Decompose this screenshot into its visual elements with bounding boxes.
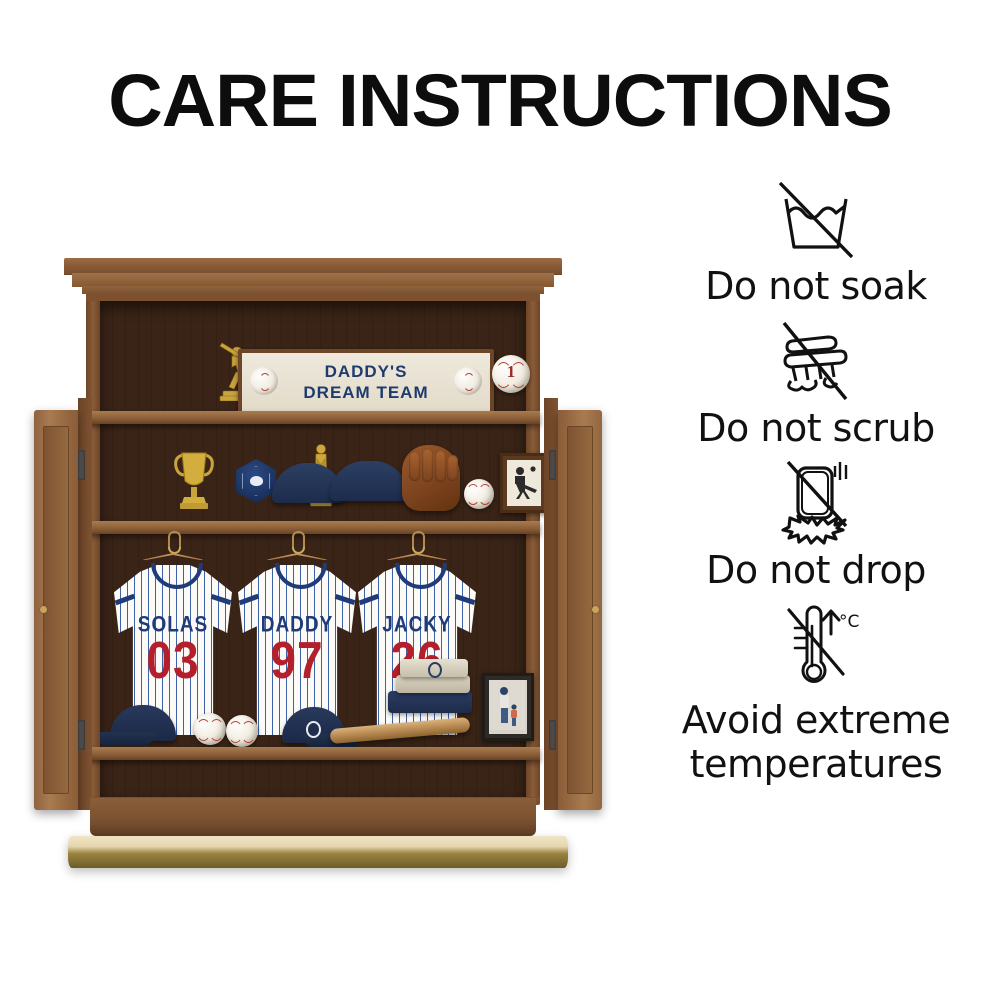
baseball-bottom-one: [194, 713, 226, 745]
care-label-do-not-scrub: Do not scrub: [632, 406, 1000, 450]
care-item-do-not-scrub: Do not scrub: [632, 314, 1000, 450]
hanger-bar-2: [265, 553, 329, 560]
right-door-hinge-bottom: [549, 720, 556, 750]
jersey-number-2: 97: [238, 630, 356, 690]
framed-family-photo: [482, 673, 534, 741]
shelf-top: [86, 411, 540, 424]
cabinet-plinth-base: [68, 836, 568, 868]
sign-line-2: DREAM TEAM: [303, 382, 428, 403]
hanger-1: [141, 539, 205, 561]
jersey-daddy: DADDY 97: [238, 565, 356, 735]
sign-text: DADDY'S DREAM TEAM: [303, 361, 428, 403]
folded-towel-bottom: [388, 691, 472, 713]
crown-molding-top: [64, 258, 562, 274]
care-item-do-not-drop: Do not drop: [632, 456, 1000, 592]
cap-brim-left: [100, 732, 156, 746]
cabinet-carcass: DADDY'S DREAM TEAM 1: [86, 293, 540, 805]
care-instruction-list: Do not soak Do not scrub: [632, 172, 1000, 792]
baseball-glove: [402, 445, 460, 511]
hanger-hook-1: [168, 531, 181, 547]
sign-baseball-left: [250, 367, 278, 395]
care-label-do-not-drop: Do not drop: [632, 548, 1000, 592]
care-item-avoid-extreme-temperatures: °C Avoid extreme temperatures: [632, 598, 1000, 786]
cap-logo: [306, 721, 321, 738]
towel-logo: [428, 662, 442, 678]
baseball-middle-shelf: [464, 479, 494, 509]
svg-text:°C: °C: [839, 612, 859, 632]
jersey-number-1: 03: [114, 630, 232, 690]
no-scrub-icon: [632, 314, 1000, 406]
hanger-hook-3: [412, 531, 425, 547]
left-door-hinge-bottom: [78, 720, 85, 750]
hanger-bar-1: [141, 553, 205, 560]
right-door-knob[interactable]: [592, 606, 599, 613]
right-door-panel: [567, 426, 593, 794]
product-image-locker-cabinet: DADDY'S DREAM TEAM 1: [28, 258, 608, 878]
baseball-number: 1: [492, 362, 530, 382]
left-door-knob[interactable]: [40, 606, 47, 613]
sign-baseball-right: [454, 367, 482, 395]
avoid-extreme-temperatures-icon: °C: [632, 598, 1000, 698]
framed-family-photo-image: [489, 680, 527, 734]
right-door-hinge-top: [549, 450, 556, 480]
name-sign-plaque: DADDY'S DREAM TEAM: [238, 349, 494, 415]
shelf-middle: [86, 521, 540, 534]
folded-towel-top: [400, 659, 468, 677]
baseball-bottom-two: [226, 715, 258, 747]
page-title: CARE INSTRUCTIONS: [0, 58, 1000, 143]
no-drop-icon: [632, 456, 1000, 548]
hanger-bar-3: [385, 553, 449, 560]
care-item-do-not-soak: Do not soak: [632, 172, 1000, 308]
hanger-hook-2: [292, 531, 305, 547]
care-label-avoid-extreme-temperatures-line1: Avoid extreme: [632, 698, 1000, 742]
hanger-2: [265, 539, 329, 561]
no-soak-icon: [632, 172, 1000, 264]
framed-batter-artwork: [500, 453, 548, 513]
care-instructions-page: CARE INSTRUCTIONS: [0, 0, 1000, 1000]
numbered-baseball: 1: [492, 355, 530, 393]
care-label-do-not-soak: Do not soak: [632, 264, 1000, 308]
sign-line-1: DADDY'S: [303, 361, 428, 382]
gold-trophy: [172, 445, 216, 511]
framed-batter-artwork-canvas: [507, 460, 541, 506]
cabinet-base-block: [90, 798, 536, 836]
care-label-avoid-extreme-temperatures-line2: temperatures: [632, 742, 1000, 786]
shelf-bottom: [86, 747, 540, 760]
hanger-3: [385, 539, 449, 561]
crown-molding-mid: [72, 273, 554, 287]
left-door-hinge-top: [78, 450, 85, 480]
badge-emblem: [250, 476, 263, 486]
